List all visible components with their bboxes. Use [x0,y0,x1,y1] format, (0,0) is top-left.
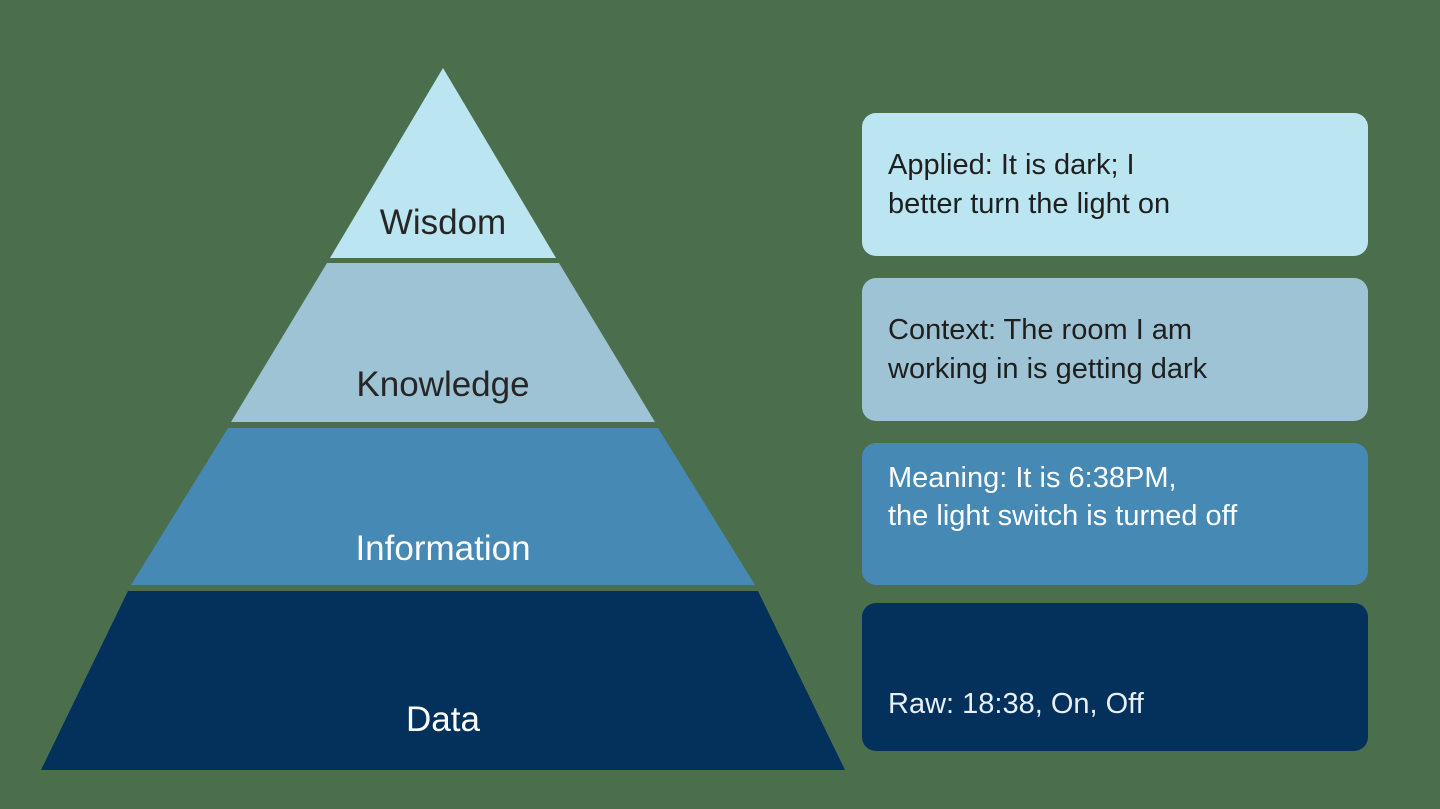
dikw-pyramid: Wisdom Knowledge Information Data [0,0,880,809]
card-applied-text: Applied: It is dark; I better turn the l… [888,146,1342,223]
pyramid-tier-knowledge [231,263,655,422]
pyramid-tier-wisdom [330,68,556,258]
pyramid-tier-information [131,428,755,585]
card-context-text: Context: The room I am working in is get… [888,311,1342,388]
card-raw-text: Raw: 18:38, On, Off [888,685,1342,723]
diagram-canvas: Wisdom Knowledge Information Data Applie… [0,0,1440,809]
card-meaning: Meaning: It is 6:38PM, the light switch … [862,443,1368,585]
card-applied: Applied: It is dark; I better turn the l… [862,113,1368,256]
card-meaning-text: Meaning: It is 6:38PM, the light switch … [888,459,1342,536]
card-raw: Raw: 18:38, On, Off [862,603,1368,751]
card-context: Context: The room I am working in is get… [862,278,1368,421]
pyramid-tier-data [41,591,845,770]
